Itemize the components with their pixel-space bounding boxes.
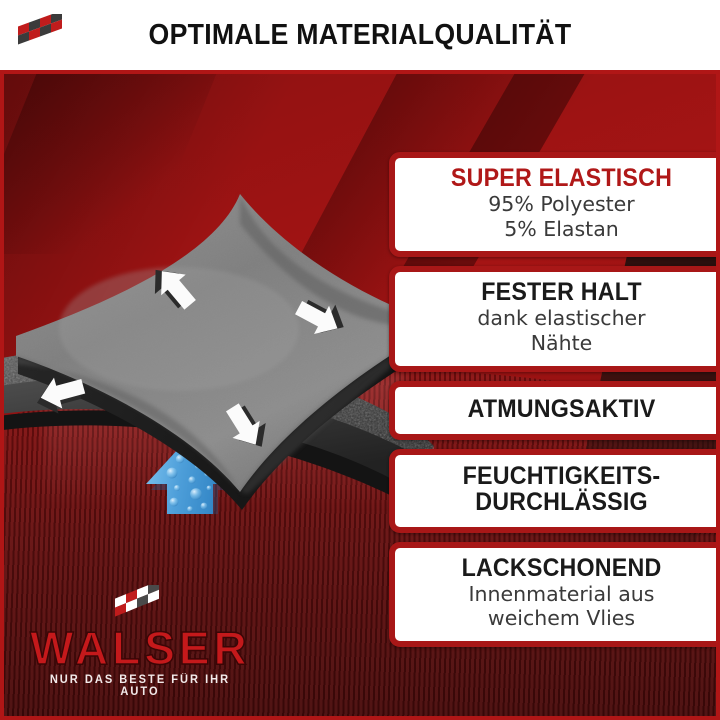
brand-wordmark: WALSER	[30, 625, 250, 671]
feature-subtitle-line: Nähte	[409, 332, 714, 356]
checkered-flag-icon	[109, 585, 171, 627]
header-bar: OPTIMALE MATERIALQUALITÄT	[0, 0, 720, 70]
brand-tagline: NUR DAS BESTE FÜR IHR AUTO	[34, 674, 245, 698]
feature-subtitle-line: dank elastischer	[409, 307, 714, 331]
stretch-fabric-illustration	[4, 74, 434, 514]
feature-title: FEUCHTIGKEITS- DURCHLÄSSIG	[420, 464, 704, 516]
feature-subtitle-line: 5% Elastan	[409, 218, 714, 242]
infographic-poster: OPTIMALE MATERIALQUALITÄT	[0, 0, 720, 720]
feature-subtitle-line: 95% Polyester	[409, 193, 714, 217]
feature-box-list: SUPER ELASTISCH 95% Polyester 5% Elastan…	[389, 152, 720, 647]
feature-subtitle-line: Innenmaterial aus	[409, 583, 714, 607]
feature-title: ATMUNGSAKTIV	[420, 397, 704, 423]
feature-box-super-elastisch[interactable]: SUPER ELASTISCH 95% Polyester 5% Elastan	[389, 152, 720, 257]
feature-box-fester-halt[interactable]: FESTER HALT dank elastischer Nähte	[389, 266, 720, 371]
feature-box-lackschonend[interactable]: LACKSCHONEND Innenmaterial aus weichem V…	[389, 542, 720, 647]
feature-box-feuchtigkeitsdurchlaessig[interactable]: FEUCHTIGKEITS- DURCHLÄSSIG	[389, 449, 720, 533]
walser-logo: WALSER NUR DAS BESTE FÜR IHR AUTO	[30, 585, 250, 698]
page-title: OPTIMALE MATERIALQUALITÄT	[29, 0, 691, 70]
feature-title: LACKSCHONEND	[420, 556, 704, 582]
feature-title: FESTER HALT	[420, 280, 704, 306]
feature-box-atmungsaktiv[interactable]: ATMUNGSAKTIV	[389, 381, 720, 441]
feature-title: SUPER ELASTISCH	[420, 166, 704, 192]
main-panel: SUPER ELASTISCH 95% Polyester 5% Elastan…	[0, 70, 720, 720]
feature-subtitle-line: weichem Vlies	[409, 607, 714, 631]
